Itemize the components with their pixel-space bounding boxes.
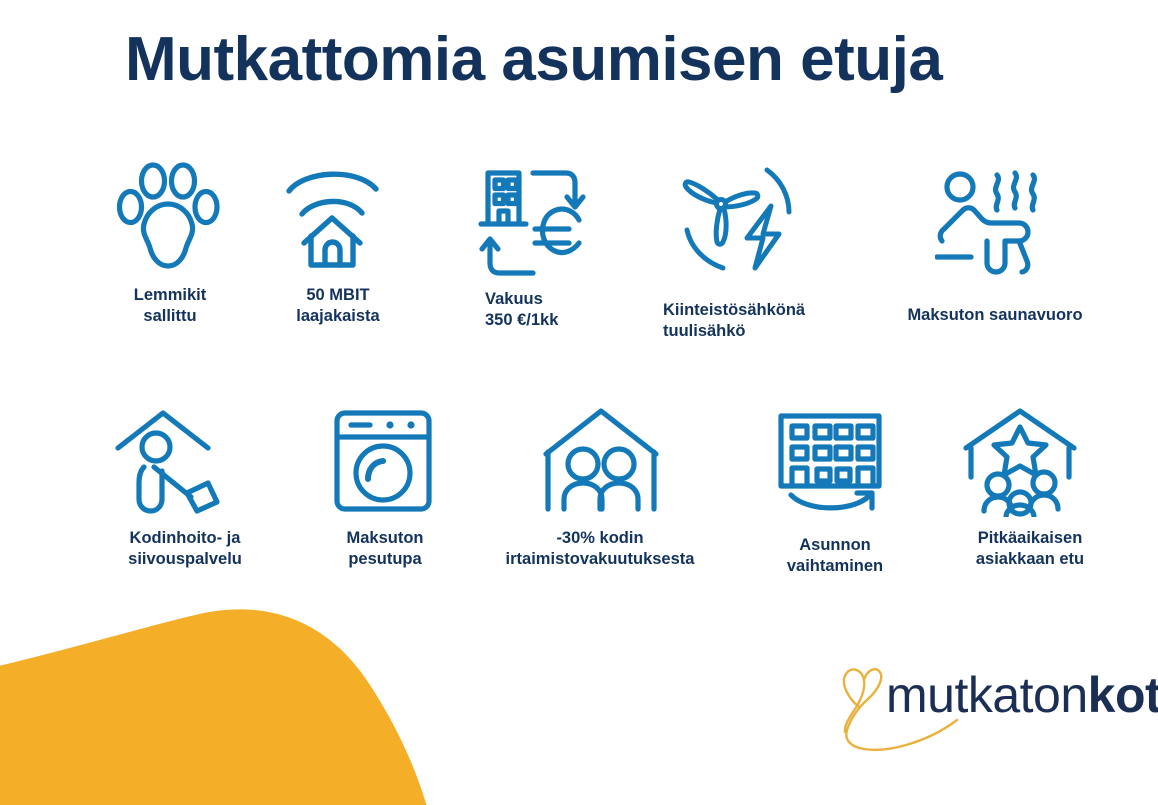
house-cleaning-person-icon: [113, 405, 233, 517]
logo-wordmark: mutkatonkoti: [886, 670, 1158, 720]
house-star-people-icon: [960, 405, 1080, 517]
benefit-item-wind-power: Kiinteistösähkönä tuulisähkö: [655, 160, 825, 360]
benefit-item-deposit: Vakuus 350 €/1kk: [465, 163, 625, 363]
benefit-label: Asunnon vaihtaminen: [740, 535, 930, 577]
page-title: Mutkattomia asumisen etuja: [125, 29, 1085, 91]
benefit-label: Vakuus 350 €/1kk: [485, 289, 635, 331]
brand-logo[interactable]: mutkatonkoti: [818, 650, 1138, 755]
benefit-item-cleaning: Kodinhoito- ja siivouspalvelu: [95, 400, 275, 600]
benefit-item-apartment-swap: Asunnon vaihtaminen: [745, 405, 925, 605]
logo-word-mutkaton: mutkaton: [886, 667, 1088, 723]
paw-print-icon: [115, 160, 225, 275]
building-euro-exchange-icon: [473, 163, 593, 283]
benefit-item-pets: Lemmikit sallittu: [100, 160, 240, 360]
apartment-swap-arrow-icon: [773, 405, 895, 517]
benefit-label: Kodinhoito- ja siivouspalvelu: [90, 528, 280, 570]
sauna-person-steam-icon: [935, 165, 1050, 275]
slide-canvas: Mutkattomia asumisen etuja Lemmikit sall…: [0, 0, 1158, 775]
benefit-item-laundry: Maksuton pesutupa: [310, 400, 460, 600]
house-two-people-icon: [542, 405, 660, 515]
benefit-label: Maksuton pesutupa: [305, 528, 465, 570]
benefit-item-broadband: 50 MBIT laajakaista: [268, 160, 408, 360]
logo-word-koti: koti: [1088, 667, 1158, 723]
benefit-label: -30% kodin irtaimistovakuutuksesta: [470, 528, 730, 570]
benefit-label: Lemmikit sallittu: [95, 285, 245, 327]
wind-turbine-lightning-icon: [675, 162, 797, 282]
wifi-house-icon: [282, 166, 390, 271]
benefit-label: Kiinteistösähkönä tuulisähkö: [663, 300, 843, 342]
benefit-label: Pitkäaikaisen asiakkaan etu: [930, 528, 1130, 570]
decorative-yellow-blob: [0, 575, 440, 805]
benefit-item-insurance-discount: -30% kodin irtaimistovakuutuksesta: [470, 400, 730, 600]
washing-machine-icon: [328, 407, 438, 515]
benefit-label: 50 MBIT laajakaista: [258, 285, 418, 327]
benefit-item-sauna: Maksuton saunavuoro: [880, 160, 1110, 360]
benefit-item-loyalty: Pitkäaikaisen asiakkaan etu: [930, 400, 1130, 600]
benefit-label: Maksuton saunavuoro: [880, 305, 1110, 326]
